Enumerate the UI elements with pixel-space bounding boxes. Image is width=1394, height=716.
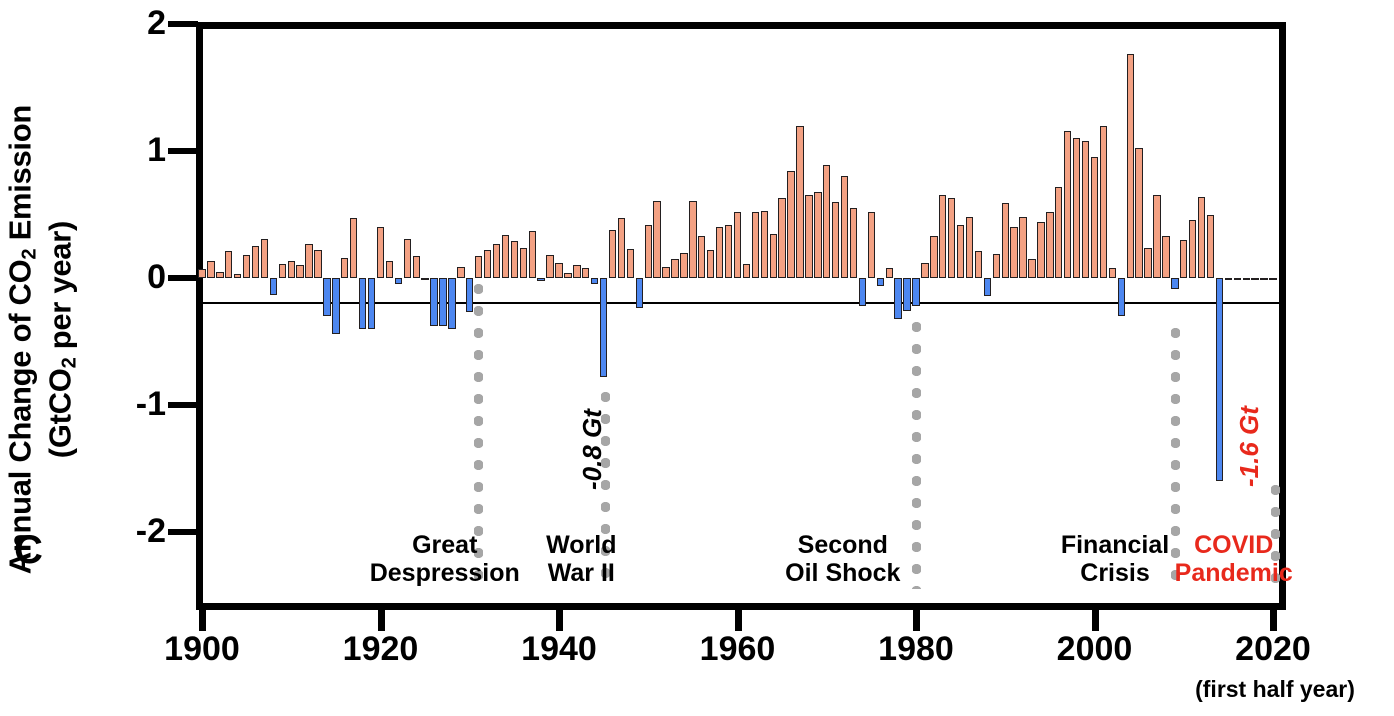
bar-1926 bbox=[430, 278, 437, 326]
bar-1940 bbox=[555, 263, 562, 278]
bar-1908 bbox=[270, 278, 277, 295]
bar-1927 bbox=[439, 278, 446, 326]
x-tick-label-2020: 2020 bbox=[1193, 632, 1353, 666]
event-label-line2: Oil Shock bbox=[728, 559, 958, 587]
event-label-second: SecondOil Shock bbox=[728, 531, 958, 587]
bar-2020 bbox=[1269, 278, 1276, 280]
bar-1996 bbox=[1055, 187, 1062, 278]
bar-1922 bbox=[395, 278, 402, 284]
bar-1913 bbox=[314, 250, 321, 278]
bar-1907 bbox=[261, 239, 268, 278]
bar-1976 bbox=[877, 278, 884, 286]
event-label-line1: World bbox=[466, 531, 696, 559]
bar-1946 bbox=[609, 230, 616, 278]
y-axis-title-line2-a: (GtCO bbox=[42, 368, 77, 458]
bar-1982 bbox=[930, 236, 937, 278]
bar-1942 bbox=[573, 265, 580, 278]
bar-2018 bbox=[1251, 278, 1258, 280]
bar-1988 bbox=[984, 278, 991, 296]
event-label-line1: Second bbox=[728, 531, 958, 559]
x-tick-label-2000: 2000 bbox=[1015, 632, 1175, 666]
y-tick--2 bbox=[168, 529, 198, 535]
bar-1932 bbox=[484, 250, 491, 278]
event-label-line1: COVID bbox=[1119, 531, 1349, 559]
y-tick-label-2: 2 bbox=[96, 6, 166, 40]
bar-1965 bbox=[778, 198, 785, 278]
event-label-line2: War II bbox=[466, 559, 696, 587]
bar-1931 bbox=[475, 256, 482, 278]
bar-2003 bbox=[1118, 278, 1125, 316]
bar-1906 bbox=[252, 246, 259, 278]
bar-1938 bbox=[537, 278, 544, 281]
bar-1957 bbox=[707, 250, 714, 278]
bar-2005 bbox=[1135, 148, 1142, 278]
bar-2001 bbox=[1100, 126, 1107, 278]
y-tick-0 bbox=[168, 275, 198, 281]
bar-1909 bbox=[279, 264, 286, 278]
x-tick-label-1940: 1940 bbox=[479, 632, 639, 666]
x-tick-label-1900: 1900 bbox=[122, 632, 282, 666]
bar-1973 bbox=[850, 208, 857, 278]
bar-1923 bbox=[404, 239, 411, 278]
bar-1901 bbox=[207, 261, 214, 278]
bar-1928 bbox=[448, 278, 455, 329]
y-tick-1 bbox=[168, 148, 198, 154]
bar-1969 bbox=[814, 192, 821, 278]
bar-2014 bbox=[1216, 278, 1223, 481]
bar-1925 bbox=[421, 278, 428, 280]
bar-1948 bbox=[627, 249, 634, 278]
bar-1974 bbox=[859, 278, 866, 306]
bar-1930 bbox=[466, 278, 473, 312]
bar-1986 bbox=[966, 217, 973, 278]
bar-1958 bbox=[716, 227, 723, 278]
bar-1950 bbox=[645, 225, 652, 278]
plot-area bbox=[202, 25, 1285, 607]
bar-2019 bbox=[1260, 278, 1267, 280]
bar-1970 bbox=[823, 165, 830, 278]
y-axis-title-line1-b: Emission bbox=[2, 105, 37, 249]
event-label-line2: Pandemic bbox=[1119, 559, 1349, 587]
bar-2015 bbox=[1225, 278, 1232, 280]
bar-1917 bbox=[350, 218, 357, 278]
bar-1951 bbox=[653, 201, 660, 278]
bar-1961 bbox=[743, 264, 750, 278]
bar-1980 bbox=[912, 278, 919, 306]
x-tick-1940 bbox=[556, 607, 563, 631]
bar-1971 bbox=[832, 202, 839, 278]
bar-2006 bbox=[1144, 248, 1151, 278]
value-note-0: -0.8 Gt bbox=[577, 409, 608, 490]
bar-1960 bbox=[734, 212, 741, 278]
x-tick-1960 bbox=[735, 607, 742, 631]
y-tick--1 bbox=[168, 402, 198, 408]
bar-1911 bbox=[296, 265, 303, 278]
bar-1936 bbox=[520, 248, 527, 278]
bar-2002 bbox=[1109, 268, 1116, 278]
x-tick-label-1960: 1960 bbox=[658, 632, 818, 666]
bar-1944 bbox=[591, 278, 598, 284]
bar-1994 bbox=[1037, 222, 1044, 278]
y-tick-label--1: -1 bbox=[96, 387, 166, 421]
x-tick-label-1920: 1920 bbox=[301, 632, 461, 666]
bar-1997 bbox=[1064, 131, 1071, 278]
bar-1935 bbox=[511, 241, 518, 278]
bar-1998 bbox=[1073, 138, 1080, 278]
bar-1924 bbox=[413, 256, 420, 278]
event-label-covid: COVIDPandemic bbox=[1119, 531, 1349, 587]
bar-1955 bbox=[689, 201, 696, 278]
bar-1964 bbox=[770, 234, 777, 278]
bar-1900 bbox=[198, 269, 205, 278]
bar-1984 bbox=[948, 198, 955, 278]
x-tick-1980 bbox=[913, 607, 920, 631]
bar-1910 bbox=[288, 261, 295, 278]
bar-1972 bbox=[841, 176, 848, 278]
panel-letter: C bbox=[14, 530, 43, 570]
bar-2004 bbox=[1127, 54, 1134, 278]
bar-1949 bbox=[636, 278, 643, 308]
bar-1929 bbox=[457, 267, 464, 278]
bar-1963 bbox=[761, 211, 768, 278]
bar-1979 bbox=[903, 278, 910, 311]
bar-1968 bbox=[805, 195, 812, 278]
bar-1978 bbox=[894, 278, 901, 319]
y-tick-label--2: -2 bbox=[96, 514, 166, 548]
y-tick-label-1: 1 bbox=[96, 133, 166, 167]
chart-root: Annual Change of CO2 Emission (GtCO2 per… bbox=[0, 0, 1394, 716]
bar-1966 bbox=[787, 171, 794, 278]
bar-2010 bbox=[1180, 240, 1187, 278]
bar-1962 bbox=[752, 212, 759, 278]
bar-1943 bbox=[582, 268, 589, 278]
bar-1992 bbox=[1019, 217, 1026, 278]
bar-1985 bbox=[957, 225, 964, 278]
bar-1916 bbox=[341, 258, 348, 278]
bar-2000 bbox=[1091, 157, 1098, 278]
bar-1937 bbox=[529, 231, 536, 278]
bar-1975 bbox=[868, 212, 875, 278]
y-tick-2 bbox=[168, 21, 198, 27]
bar-1945 bbox=[600, 278, 607, 377]
bar-1959 bbox=[725, 225, 732, 278]
bar-1953 bbox=[671, 259, 678, 278]
bar-1967 bbox=[796, 126, 803, 278]
bar-1977 bbox=[886, 268, 893, 278]
bar-2008 bbox=[1162, 236, 1169, 278]
bar-1981 bbox=[921, 263, 928, 278]
y-axis-title-sub2: 2 bbox=[58, 358, 80, 369]
bar-1947 bbox=[618, 218, 625, 278]
bar-1912 bbox=[305, 244, 312, 278]
bar-1983 bbox=[939, 195, 946, 278]
bar-1999 bbox=[1082, 141, 1089, 278]
bar-1904 bbox=[234, 274, 241, 278]
bar-1939 bbox=[546, 255, 553, 278]
y-axis-title-sub1: 2 bbox=[18, 249, 40, 260]
y-axis-title-line2-b: per year) bbox=[42, 221, 77, 358]
bar-1956 bbox=[698, 236, 705, 278]
bar-1934 bbox=[502, 235, 509, 278]
bar-1993 bbox=[1028, 259, 1035, 278]
event-label-world: WorldWar II bbox=[466, 531, 696, 587]
x-tick-2020 bbox=[1270, 607, 1277, 631]
x-tick-1900 bbox=[199, 607, 206, 631]
y-tick-label-0: 0 bbox=[96, 260, 166, 294]
bar-1915 bbox=[332, 278, 339, 334]
value-note-1: -1.6 Gt bbox=[1234, 406, 1265, 487]
bar-2017 bbox=[1243, 278, 1250, 280]
bar-1920 bbox=[377, 227, 384, 278]
bar-2013 bbox=[1207, 215, 1214, 279]
bar-1995 bbox=[1046, 212, 1053, 278]
bar-1903 bbox=[225, 251, 232, 278]
x-tick-label-1980: 1980 bbox=[836, 632, 996, 666]
bar-1921 bbox=[386, 261, 393, 278]
bar-1902 bbox=[216, 272, 223, 278]
bar-2012 bbox=[1198, 197, 1205, 278]
bar-1933 bbox=[493, 244, 500, 278]
bar-1990 bbox=[1002, 203, 1009, 278]
bar-1954 bbox=[680, 253, 687, 278]
bar-1991 bbox=[1010, 227, 1017, 278]
bar-1952 bbox=[662, 267, 669, 278]
bar-2011 bbox=[1189, 220, 1196, 278]
bar-1914 bbox=[323, 278, 330, 316]
bar-1989 bbox=[993, 254, 1000, 278]
bar-1987 bbox=[975, 251, 982, 278]
x-tick-2000 bbox=[1092, 607, 1099, 631]
bar-1941 bbox=[564, 273, 571, 278]
bar-1905 bbox=[243, 255, 250, 278]
bar-2016 bbox=[1234, 278, 1241, 280]
bar-2009 bbox=[1171, 278, 1178, 289]
x-tick-1920 bbox=[378, 607, 385, 631]
y-axis-title-line1-a: Annual Change of CO bbox=[2, 260, 37, 575]
x-axis-note: (first half year) bbox=[1115, 676, 1394, 703]
bar-1918 bbox=[359, 278, 366, 329]
bar-2007 bbox=[1153, 195, 1160, 278]
bar-1919 bbox=[368, 278, 375, 329]
